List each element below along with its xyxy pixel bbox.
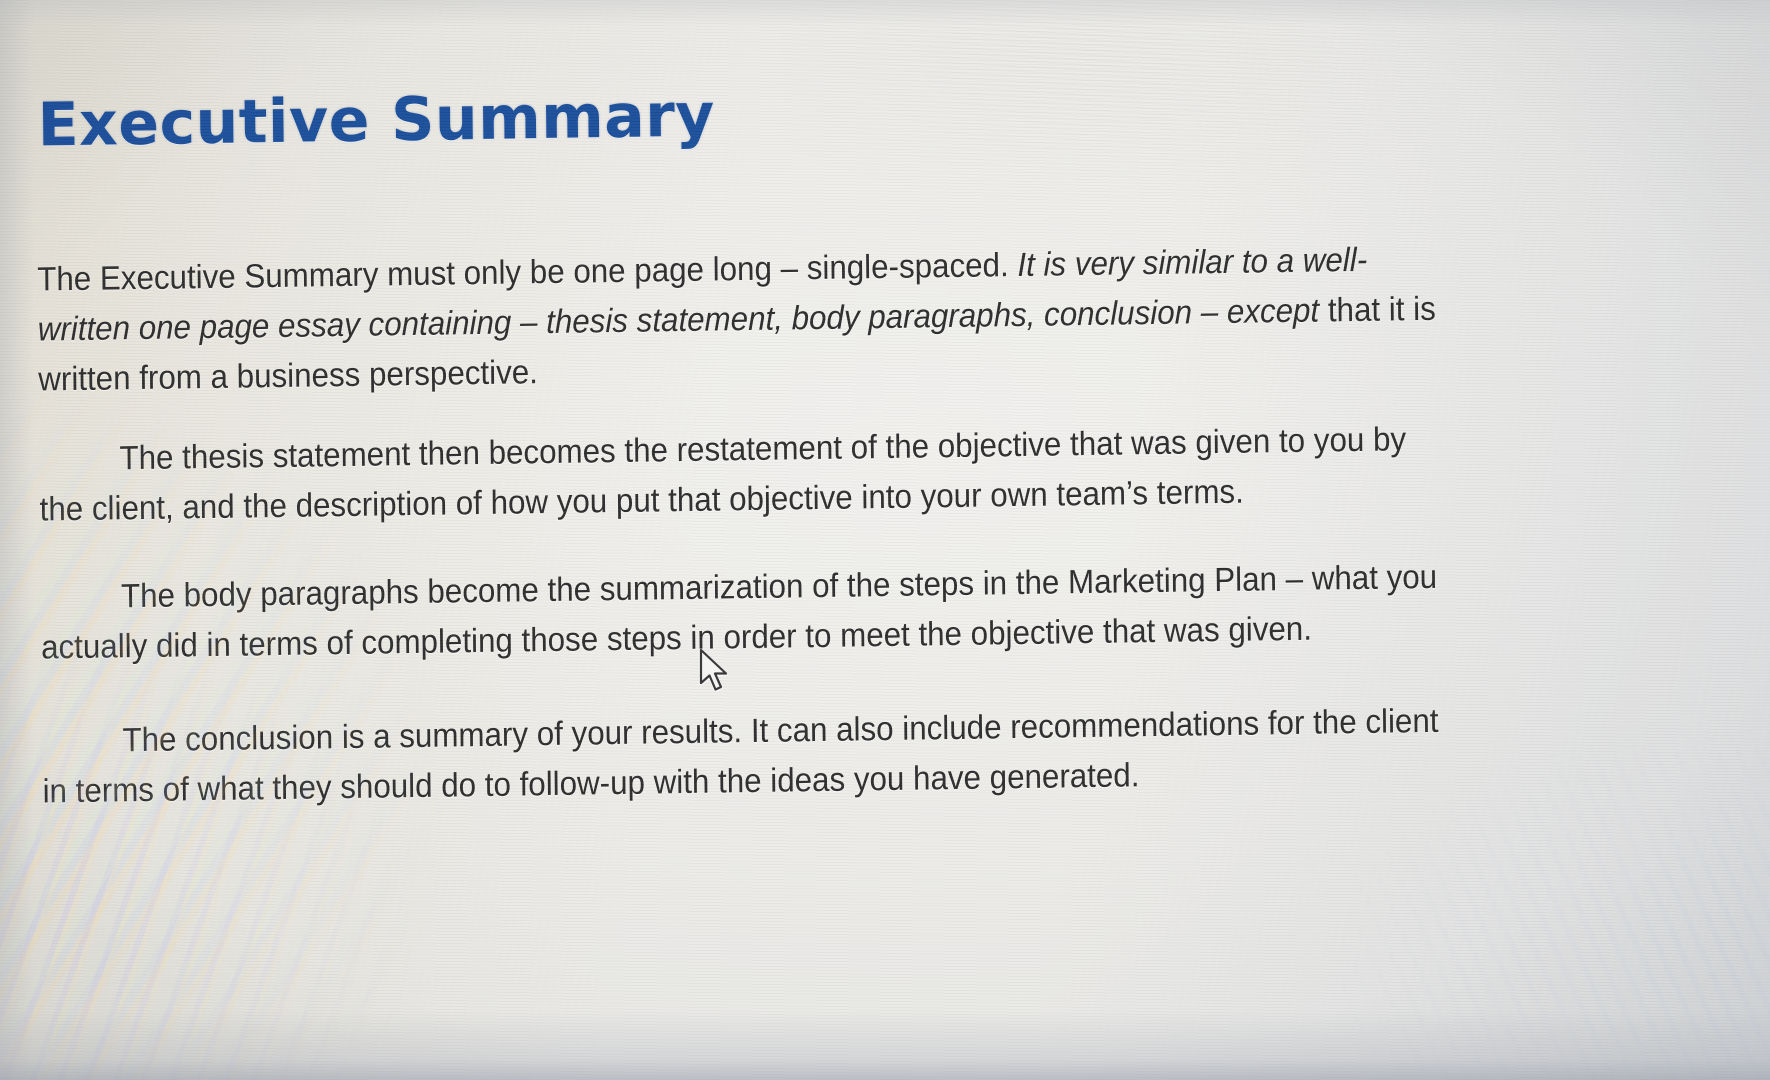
slide-photo-screen: Executive Summary The Executive Summary … bbox=[0, 0, 1770, 1080]
presentation-slide: Executive Summary The Executive Summary … bbox=[0, 0, 1770, 1080]
paragraph-conclusion: The conclusion is a summary of your resu… bbox=[42, 697, 1445, 818]
text-run: The body paragraphs become the summariza… bbox=[41, 559, 1437, 667]
page-title: Executive Summary bbox=[37, 80, 715, 160]
paragraph-indent bbox=[39, 469, 119, 470]
paragraph-thesis: The thesis statement then becomes the re… bbox=[39, 415, 1442, 536]
paragraph-indent bbox=[42, 751, 122, 752]
text-run: The thesis statement then becomes the re… bbox=[39, 421, 1406, 528]
slide-body: The Executive Summary must only be one p… bbox=[37, 233, 1543, 847]
text-run: The conclusion is a summary of your resu… bbox=[42, 703, 1438, 811]
paragraph-indent bbox=[41, 607, 121, 608]
text-run: The Executive Summary must only be one p… bbox=[37, 247, 1018, 299]
paragraph-intro: The Executive Summary must only be one p… bbox=[37, 235, 1441, 406]
paragraph-body: The body paragraphs become the summariza… bbox=[40, 553, 1443, 674]
